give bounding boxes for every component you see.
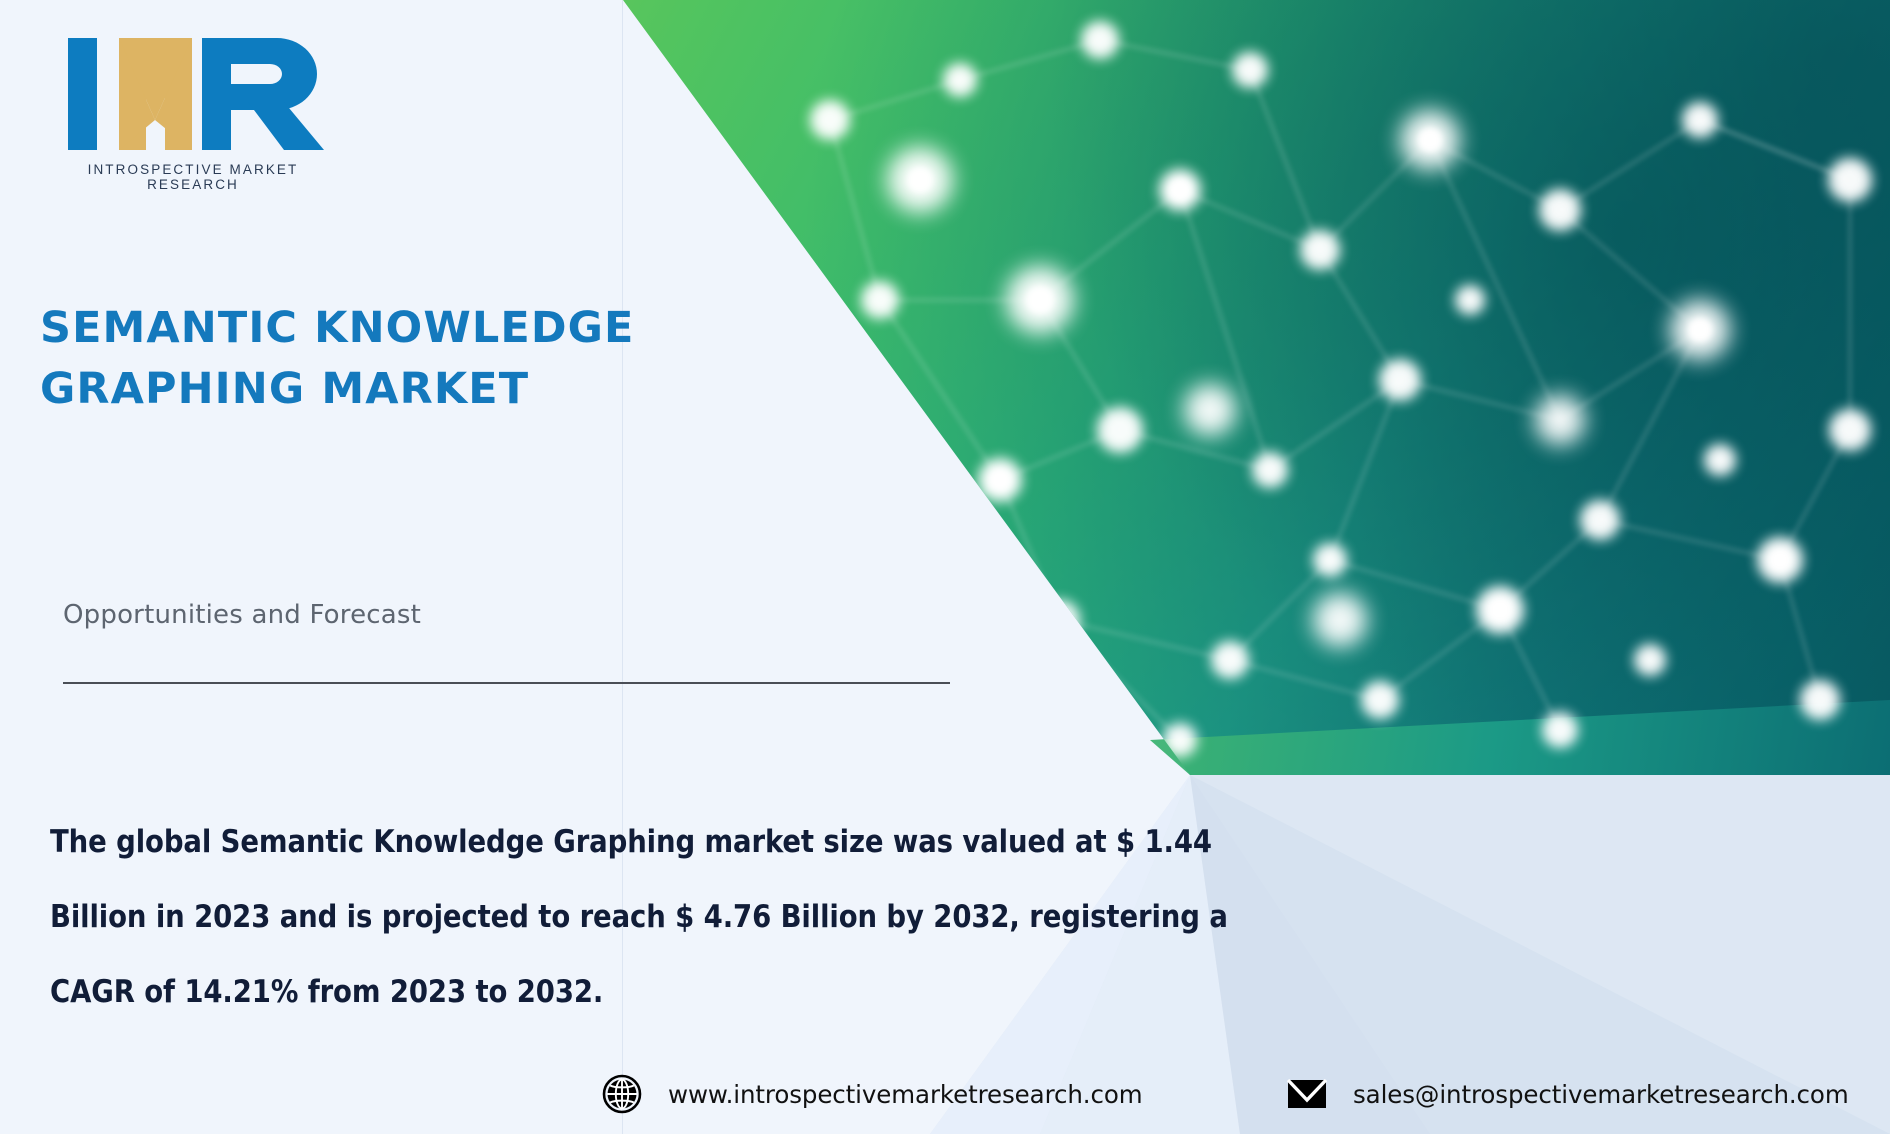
brand-logo[interactable]: INTROSPECTIVE MARKET RESEARCH [62,28,362,192]
footer: www.introspectivemarketresearch.com sale… [0,1072,1890,1134]
page-title-line-1: SEMANTIC KNOWLEDGE [40,303,634,353]
website-contact[interactable]: www.introspectivemarketresearch.com [600,1072,1143,1116]
website-url[interactable]: www.introspectivemarketresearch.com [668,1080,1143,1109]
page-title: SEMANTIC KNOWLEDGE GRAPHING MARKET [40,298,760,420]
market-summary-statement: The global Semantic Knowledge Graphing m… [50,805,1486,1030]
page-title-line-2: GRAPHING MARKET [40,359,760,420]
page-subtitle: Opportunities and Forecast [63,600,421,630]
envelope-icon [1285,1072,1329,1116]
brand-tagline: INTROSPECTIVE MARKET RESEARCH [64,162,322,192]
email-contact[interactable]: sales@introspectivemarketresearch.com [1285,1072,1849,1116]
poster-canvas: INTROSPECTIVE MARKET RESEARCH SEMANTIC K… [0,0,1890,1134]
email-address[interactable]: sales@introspectivemarketresearch.com [1353,1080,1849,1109]
imr-logo-icon [62,28,362,156]
statement-line-1: The global Semantic Knowledge Graphing m… [50,805,1486,880]
title-divider [63,682,950,684]
statement-line-3: CAGR of 14.21% from 2023 to 2032. [50,955,1486,1030]
globe-icon [600,1072,644,1116]
statement-line-2: Billion in 2023 and is projected to reac… [50,880,1486,955]
